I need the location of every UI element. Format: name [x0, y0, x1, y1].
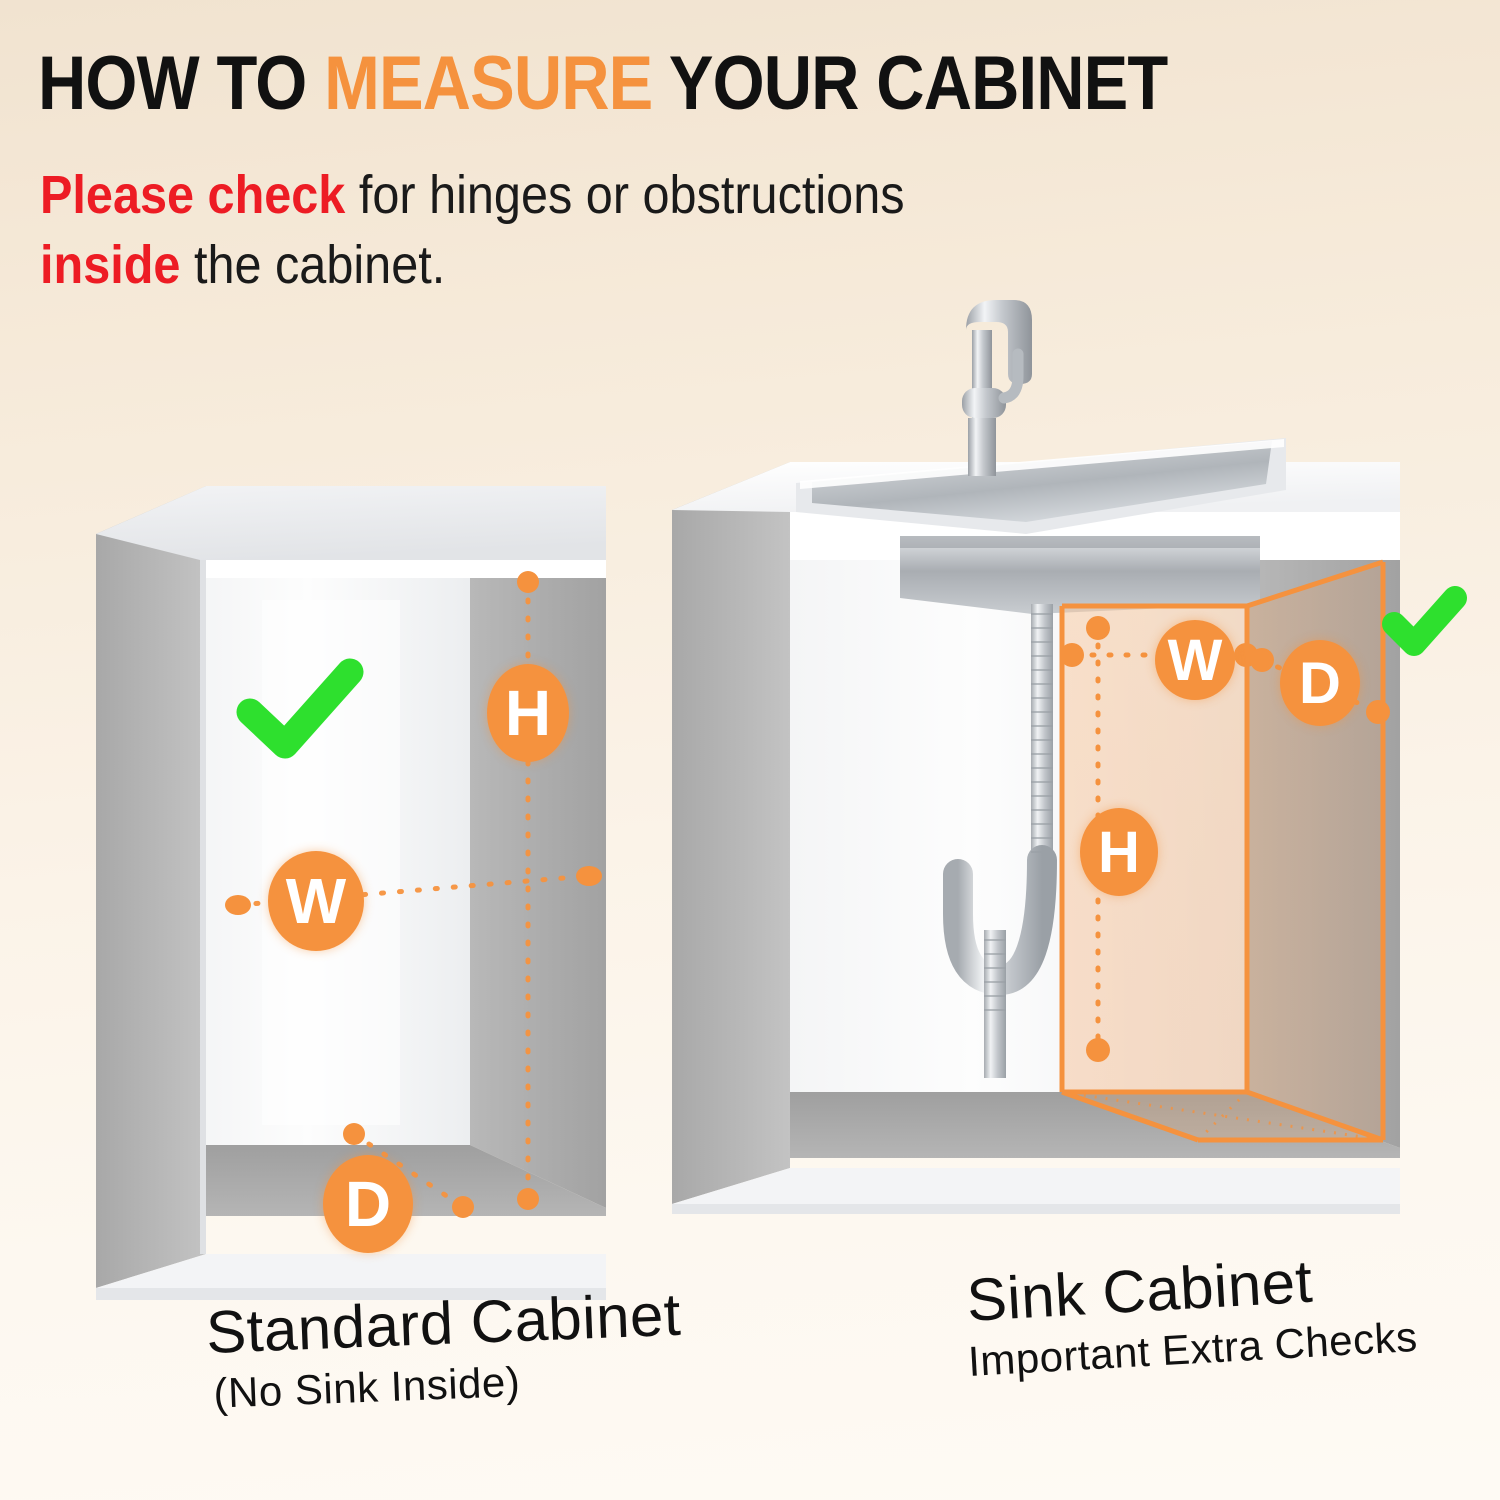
badge-height-standard: H [487, 664, 569, 762]
badge-height-sink: H [1080, 808, 1158, 896]
page-title: HOW TO MEASURE YOUR CABINET [38, 42, 1182, 126]
cabinet-bottom-plinth [96, 1254, 606, 1288]
sink-width-endpoint-right [1234, 643, 1258, 667]
measure-volume-floor-face [1062, 1092, 1383, 1140]
subtitle-bold-1: Please check [40, 165, 345, 225]
sink-width-endpoint-left [1060, 643, 1084, 667]
sink-basin-underside-shadow [900, 536, 1260, 548]
sink-basin-rim [796, 438, 1286, 534]
measure-volume-floor-diagonals [1062, 1092, 1383, 1140]
drain-pipe-icon [958, 604, 1053, 1078]
sink-cabinet-graphic [672, 300, 1455, 1214]
cabinet-inner-left-edge [200, 560, 206, 1254]
sink-cabinet-inner-floor [790, 1092, 1400, 1158]
depth-endpoint-front [452, 1196, 474, 1218]
green-check-icon-right [1394, 598, 1455, 644]
sink-counter-edge [790, 512, 1400, 560]
green-check-icon-left [250, 672, 350, 745]
drain-trap-bend [958, 860, 1042, 980]
sink-basin-rim-highlight [800, 439, 1284, 489]
width-endpoint-right [576, 866, 602, 886]
badge-depth-sink: D [1280, 640, 1360, 726]
subtitle-line-1: Please check for hinges or obstructions [40, 160, 1102, 230]
height-endpoint-bottom [517, 1188, 539, 1210]
drain-outlet [984, 930, 1006, 1078]
faucet-spout [966, 300, 1032, 384]
sink-height-endpoint-bottom [1086, 1038, 1110, 1062]
sink-depth-endpoint-far [1366, 700, 1390, 724]
title-part-2: YOUR CABINET [652, 41, 1167, 126]
sink-cabinet-plinth-shadow [672, 1204, 1400, 1214]
subtitle: Please check for hinges or obstructions … [40, 160, 1102, 300]
sink-counter-top [672, 462, 1400, 512]
cabinet-left-side-panel [96, 486, 206, 1288]
badge-depth-standard: D [323, 1155, 413, 1253]
subtitle-bold-2: inside [40, 235, 180, 295]
title-part-1: HOW TO [38, 41, 324, 126]
badge-width-standard-label: W [286, 864, 346, 938]
faucet-column [972, 330, 992, 470]
title-highlight: MEASURE [324, 41, 652, 126]
width-endpoint-left [225, 895, 251, 915]
infographic-canvas: HOW TO MEASURE YOUR CABINET Please check… [0, 0, 1500, 1500]
sink-basin-underside [900, 536, 1260, 614]
badge-height-sink-label: H [1098, 819, 1140, 886]
depth-endpoint-back [343, 1123, 365, 1145]
badge-width-standard: W [268, 851, 364, 951]
badge-depth-standard-label: D [345, 1167, 391, 1241]
badge-width-sink: W [1155, 620, 1235, 700]
sink-cabinet-caption: Sink Cabinet Important Extra Checks [965, 1243, 1419, 1390]
cabinet-top-edge [200, 560, 606, 578]
drain-corrugation [984, 614, 1053, 1010]
badge-width-sink-label: W [1168, 627, 1223, 694]
standard-cabinet-caption: Standard Cabinet (No Sink Inside) [205, 1282, 684, 1422]
faucet-body [962, 388, 1006, 418]
faucet-base [968, 418, 996, 476]
faucet-lever [1004, 354, 1018, 398]
sink-cabinet-inner-right-wall [1247, 512, 1400, 1148]
badge-height-standard-label: H [505, 676, 551, 750]
subtitle-line-2: inside the cabinet. [40, 230, 1102, 300]
subtitle-rest-1: for hinges or obstructions [345, 165, 904, 225]
sink-basin-bowl [812, 441, 1272, 522]
sink-cabinet-left-side [672, 462, 790, 1204]
faucet-icon [962, 300, 1032, 476]
height-endpoint-top [517, 571, 539, 593]
sink-height-endpoint-top [1086, 616, 1110, 640]
subtitle-rest-2: the cabinet. [180, 235, 445, 295]
sink-depth-endpoint-near [1250, 648, 1274, 672]
badge-depth-sink-label: D [1299, 650, 1341, 717]
drain-tailpiece [1031, 604, 1053, 859]
sink-cabinet-plinth [672, 1168, 1400, 1204]
cabinet-top-panel [96, 486, 606, 560]
